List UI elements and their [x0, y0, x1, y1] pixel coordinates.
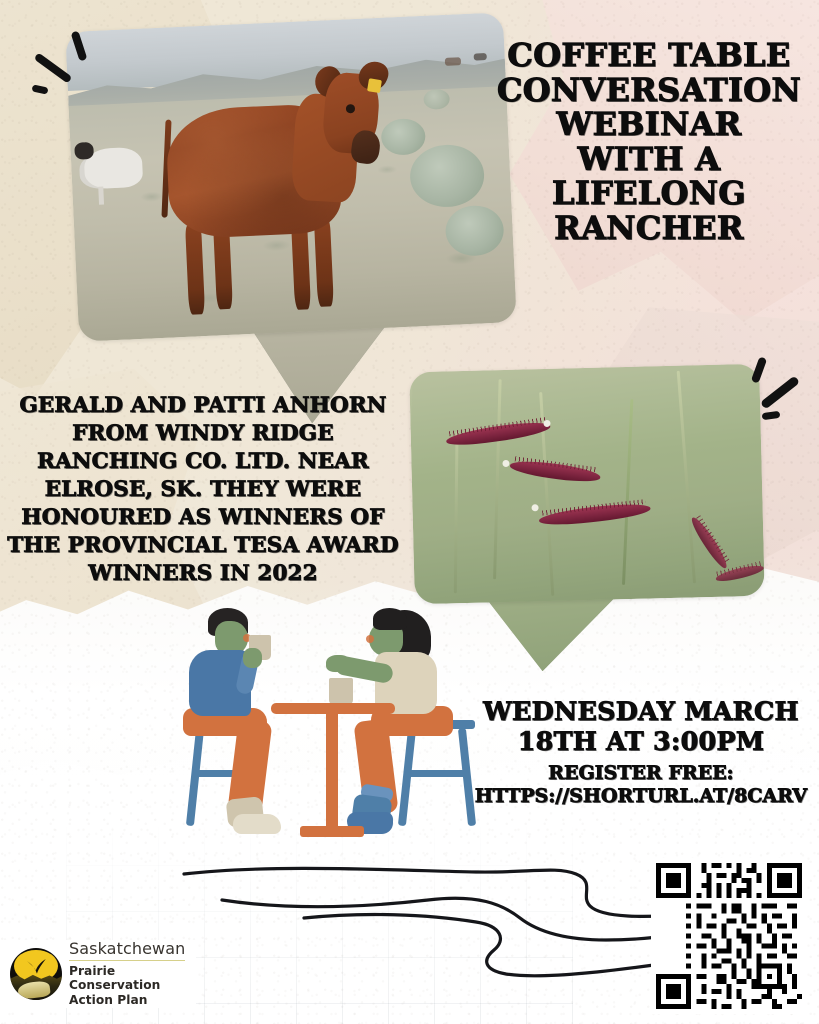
headline-line: LIFELONG [495, 176, 803, 211]
stool-leg [398, 728, 416, 826]
cow-leg [185, 225, 205, 315]
event-details: WEDNESDAY MARCH 18TH AT 3:00PM REGISTER … [471, 698, 811, 809]
table-coffee-cup [329, 678, 353, 705]
logo-province-name: Saskatchewan [69, 941, 185, 961]
cow-leg [314, 219, 334, 307]
grass-bubble-body [409, 364, 765, 604]
grass-speech-bubble [409, 364, 765, 604]
blurb-line: ELROSE, SK. THEY WERE [0, 476, 406, 504]
table-stem [326, 714, 338, 830]
blurb-line: HONOURED AS WINNERS OF [0, 504, 406, 532]
blurb-line: FROM WINDY RIDGE [0, 420, 406, 448]
bird-icon [26, 958, 47, 975]
wave-line [184, 868, 688, 916]
headline-line: WEBINAR [495, 107, 803, 142]
prairie-sun-bird-emblem-icon [10, 948, 62, 1000]
woman-hand [326, 655, 350, 672]
emphasis-dash [751, 356, 767, 383]
register-label: REGISTER FREE: [471, 762, 811, 785]
blurb-line: GERALD AND PATTI ANHORN [0, 392, 406, 420]
blurb-line: WINNERS IN 2022 [0, 560, 406, 588]
white-cow-icon [84, 147, 144, 190]
stool-leg [186, 728, 204, 826]
grass-seed-tip [531, 504, 538, 511]
cow-muzzle [350, 129, 382, 166]
headline-line: COFFEE TABLE [495, 38, 803, 73]
man-shoe [233, 814, 281, 834]
prairie-grass-photo [409, 364, 765, 604]
emphasis-dash [34, 52, 73, 83]
cow-in-pasture-photo [65, 12, 517, 342]
emphasis-dash [762, 411, 781, 420]
table-base [300, 826, 364, 837]
register-url[interactable]: HTTPS://SHORTURL.AT/8CARV [471, 785, 811, 808]
logo-org-line-2: Action Plan [69, 993, 188, 1007]
event-date-line-1: WEDNESDAY MARCH [471, 698, 811, 728]
logo-text-block: Saskatchewan Prairie Conservation Action… [69, 941, 188, 1007]
qr-code-icon [656, 863, 802, 1009]
qr-code-registration[interactable] [651, 858, 807, 1014]
wavy-decorative-lines [176, 848, 696, 978]
cow-bubble-body [65, 12, 517, 342]
emphasis-dash [760, 375, 800, 409]
headline-line: CONVERSATION [495, 73, 803, 108]
logo-org-line-1: Prairie Conservation [69, 964, 188, 993]
woman-hair-front [373, 608, 407, 630]
table-top [271, 703, 395, 714]
poster-canvas: COFFEE TABLE CONVERSATION WEBINAR WITH A… [0, 0, 819, 1024]
headline-line: WITH A [495, 142, 803, 177]
stool-rung [405, 770, 469, 777]
emphasis-dash [71, 30, 88, 61]
distant-cow-icon [445, 58, 461, 67]
cow-figure [164, 83, 389, 316]
emphasis-dashes-icon [30, 36, 96, 96]
man-hand [243, 648, 262, 668]
emphasis-dash [31, 84, 48, 94]
cow-speech-bubble [65, 12, 517, 342]
blurb-line: RANCHING CO. LTD. NEAR [0, 448, 406, 476]
event-date-line-2: 18TH AT 3:00PM [471, 728, 811, 758]
wave-line [304, 915, 690, 976]
two-people-at-coffee-table [183, 608, 483, 858]
cow-ear-tag [367, 78, 382, 93]
woman-nose [366, 635, 374, 643]
poster-headline: COFFEE TABLE CONVERSATION WEBINAR WITH A… [495, 38, 803, 245]
grass-field-background [409, 364, 765, 604]
poster-blurb: GERALD AND PATTI ANHORN FROM WINDY RIDGE… [0, 392, 406, 588]
blurb-line: THE PROVINCIAL TESA AWARD [0, 532, 406, 560]
headline-line: RANCHER [495, 211, 803, 246]
emphasis-dashes-icon [744, 360, 810, 422]
pcap-logo[interactable]: Saskatchewan Prairie Conservation Action… [0, 940, 196, 1008]
